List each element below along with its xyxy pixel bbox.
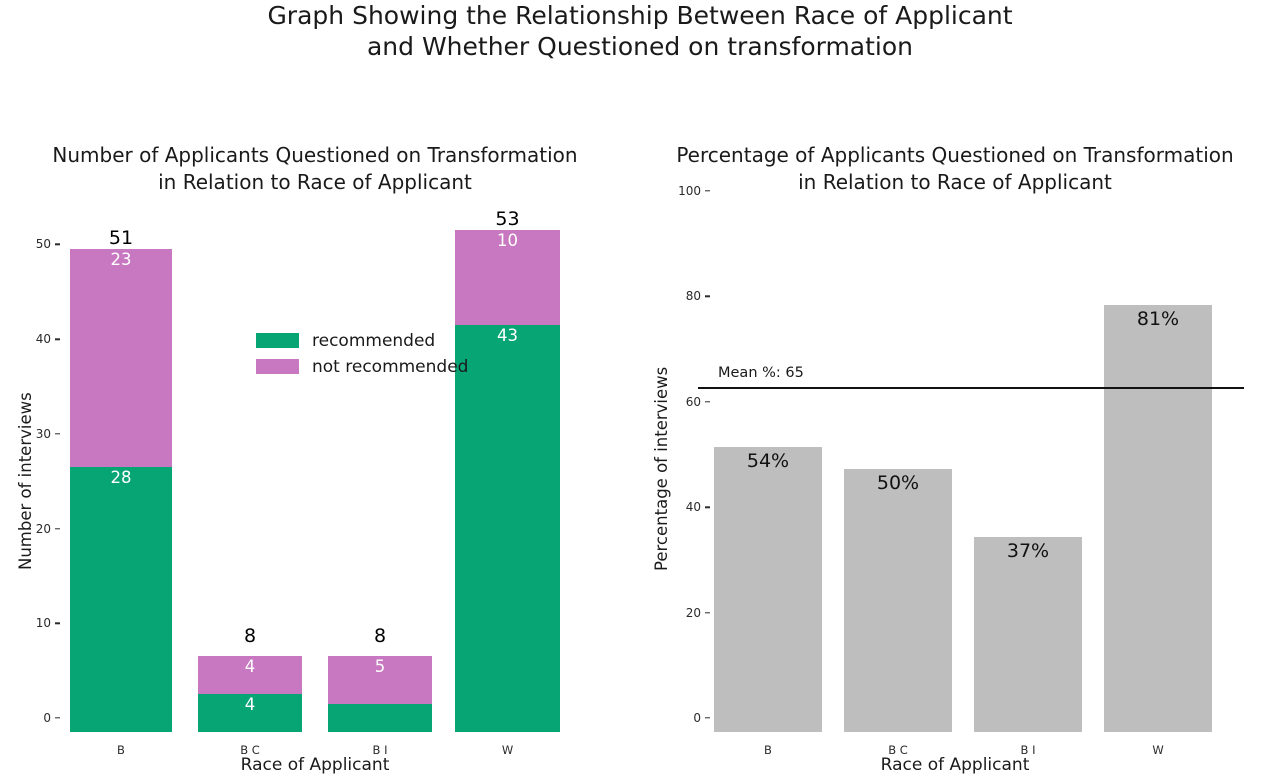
tick-dash bbox=[705, 507, 710, 508]
y-tick-10: 10 bbox=[36, 616, 60, 630]
percentage-bar-B[interactable]: 54% B bbox=[714, 205, 822, 732]
segment-value-label: 4 bbox=[245, 656, 256, 676]
x-tick-W: W bbox=[502, 732, 513, 757]
y-tick-20: 20 bbox=[36, 522, 60, 536]
stacked-bar-BC[interactable]: 8 4 4 B C bbox=[198, 230, 302, 732]
segment-not-recommended[interactable]: 4 bbox=[198, 656, 302, 694]
y-tick-50: 50 bbox=[36, 237, 60, 251]
bar-value-label: 81% bbox=[1137, 305, 1179, 330]
tick-dash bbox=[55, 623, 60, 624]
percentage-bar-BI[interactable]: 37% B I bbox=[974, 205, 1082, 732]
legend-swatch-recommended bbox=[256, 333, 299, 348]
bar-body[interactable]: 50% bbox=[844, 469, 952, 733]
segment-recommended[interactable] bbox=[328, 704, 432, 732]
figure-suptitle: Graph Showing the Relationship Between R… bbox=[0, 0, 1280, 62]
bar-body[interactable]: 37% bbox=[974, 537, 1082, 732]
segment-value-label: 4 bbox=[245, 694, 256, 714]
bar-body[interactable]: 54% bbox=[714, 447, 822, 732]
tick-dash bbox=[705, 190, 710, 191]
segment-not-recommended[interactable]: 10 bbox=[455, 230, 560, 325]
x-tick-B: B bbox=[117, 732, 125, 757]
stacked-bar-W[interactable]: 53 10 43 W bbox=[455, 230, 560, 732]
legend-item-recommended[interactable]: recommended bbox=[256, 330, 468, 351]
subplot-percentage-title: Percentage of Applicants Questioned on T… bbox=[630, 142, 1280, 196]
tick-dash bbox=[55, 244, 60, 245]
x-tick-BC: B C bbox=[888, 732, 908, 757]
y-tick-0: 0 bbox=[693, 711, 710, 725]
percentage-bar-BC[interactable]: 50% B C bbox=[844, 205, 952, 732]
plot-area-percentage: 0 20 40 60 80 100 54% B 50% B C bbox=[710, 205, 1240, 732]
plot-area-counts: 0 10 20 30 40 50 51 23 28 B 8 4 bbox=[60, 230, 580, 732]
x-tick-BI: B I bbox=[373, 732, 388, 757]
y-tick-60: 60 bbox=[686, 395, 710, 409]
x-axis-label-percentage: Race of Applicant bbox=[630, 755, 1280, 775]
legend-swatch-not-recommended bbox=[256, 359, 299, 374]
y-tick-40: 40 bbox=[36, 332, 60, 346]
bar-body[interactable]: 81% bbox=[1104, 305, 1212, 732]
bar-value-label: 50% bbox=[877, 469, 919, 494]
segment-recommended[interactable]: 28 bbox=[70, 467, 172, 732]
bar-total-label: 53 bbox=[455, 208, 560, 230]
stacked-bar-B[interactable]: 51 23 28 B bbox=[70, 230, 172, 732]
segment-value-label: 23 bbox=[111, 249, 132, 269]
y-tick-0: 0 bbox=[43, 711, 60, 725]
bar-value-label: 37% bbox=[1007, 537, 1049, 562]
tick-dash bbox=[55, 717, 60, 718]
tick-dash bbox=[705, 717, 710, 718]
segment-recommended[interactable]: 4 bbox=[198, 694, 302, 732]
stacked-bar-BI[interactable]: 8 5 B I bbox=[328, 230, 432, 732]
x-tick-BC: B C bbox=[240, 732, 260, 757]
y-tick-20: 20 bbox=[686, 606, 710, 620]
bar-total-label: 8 bbox=[198, 625, 302, 647]
percentage-bar-W[interactable]: 81% W bbox=[1104, 205, 1212, 732]
bar-total-label: 51 bbox=[70, 227, 172, 249]
y-tick-100: 100 bbox=[678, 184, 710, 198]
tick-dash bbox=[705, 296, 710, 297]
y-axis-label-counts: Number of interviews bbox=[16, 392, 35, 570]
subplot-percentage: Percentage of Applicants Questioned on T… bbox=[630, 130, 1280, 772]
tick-dash bbox=[55, 338, 60, 339]
mean-percentage-label: Mean %: 65 bbox=[718, 365, 804, 381]
y-tick-80: 80 bbox=[686, 289, 710, 303]
legend-label: not recommended bbox=[312, 357, 468, 377]
y-tick-30: 30 bbox=[36, 427, 60, 441]
bar-value-label: 54% bbox=[747, 447, 789, 472]
tick-dash bbox=[705, 612, 710, 613]
legend-item-not-recommended[interactable]: not recommended bbox=[256, 356, 468, 377]
segment-value-label: 10 bbox=[497, 230, 518, 250]
x-tick-BI: B I bbox=[1021, 732, 1036, 757]
segment-value-label: 5 bbox=[375, 656, 386, 676]
segment-not-recommended[interactable]: 5 bbox=[328, 656, 432, 703]
mean-percentage-line bbox=[698, 387, 1244, 389]
x-tick-W: W bbox=[1152, 732, 1163, 757]
legend-counts[interactable]: recommended not recommended bbox=[256, 330, 468, 377]
tick-dash bbox=[55, 433, 60, 434]
figure-canvas: Graph Showing the Relationship Between R… bbox=[0, 0, 1280, 772]
segment-value-label: 43 bbox=[497, 325, 518, 345]
subplot-counts: Number of Applicants Questioned on Trans… bbox=[0, 130, 630, 772]
tick-dash bbox=[55, 528, 60, 529]
segment-value-label: 28 bbox=[111, 467, 132, 487]
x-axis-label-counts: Race of Applicant bbox=[0, 755, 630, 775]
y-axis-label-percentage: Percentage of interviews bbox=[652, 366, 671, 570]
segment-recommended[interactable]: 43 bbox=[455, 325, 560, 732]
segment-not-recommended[interactable]: 23 bbox=[70, 249, 172, 467]
tick-dash bbox=[705, 401, 710, 402]
y-tick-40: 40 bbox=[686, 500, 710, 514]
x-tick-B: B bbox=[764, 732, 772, 757]
bar-total-label: 8 bbox=[328, 625, 432, 647]
subplot-counts-title: Number of Applicants Questioned on Trans… bbox=[0, 142, 630, 196]
legend-label: recommended bbox=[312, 331, 435, 351]
